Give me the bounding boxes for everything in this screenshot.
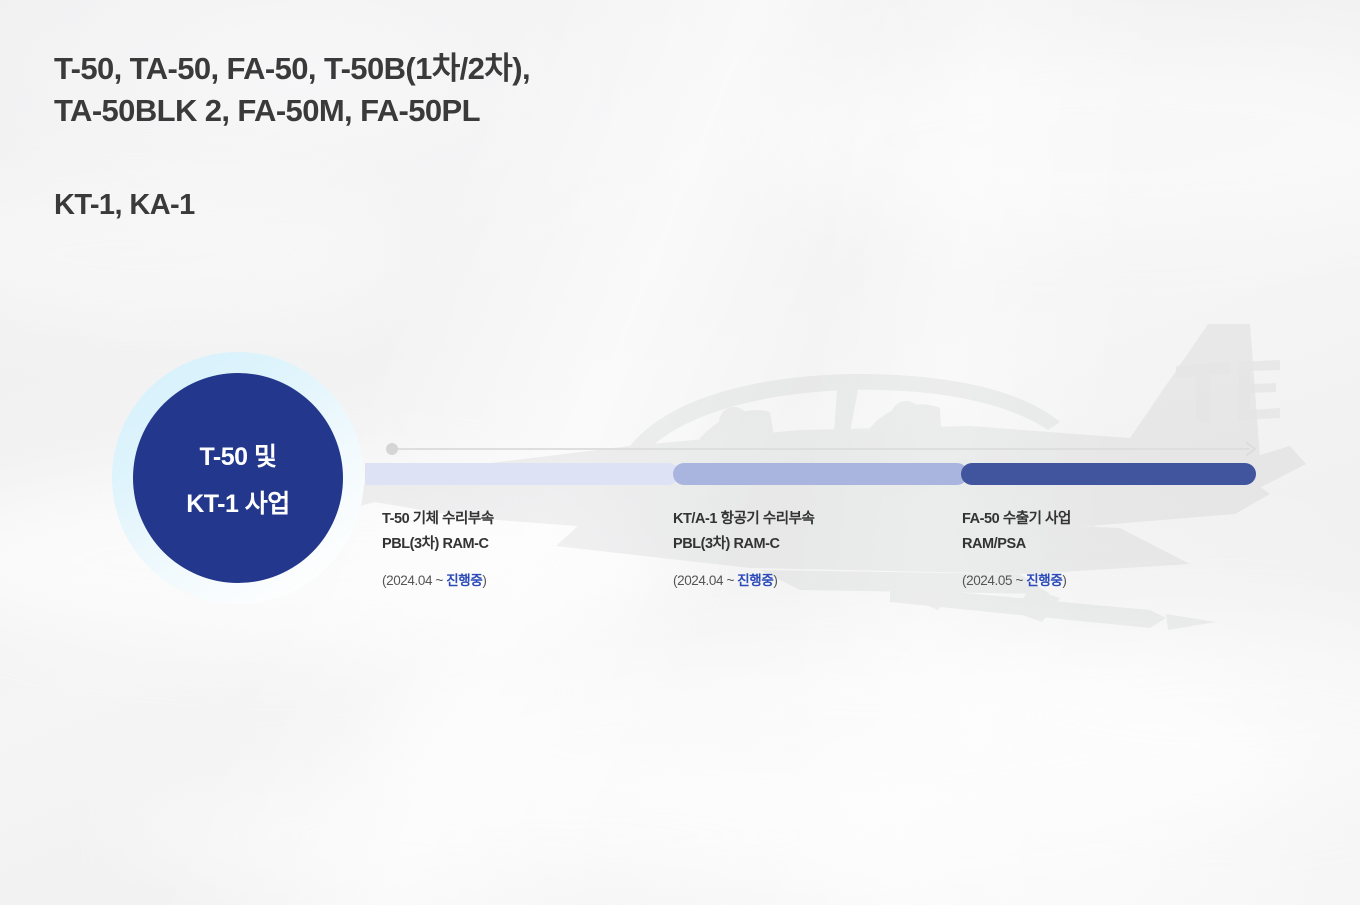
timeline-item-3-title-line-1: FA-50 수출기 사업 (962, 507, 1071, 532)
period-suffix: ) (482, 573, 486, 588)
period-prefix: (2024.04 ~ (382, 573, 446, 588)
timeline-item-2: KT/A-1 항공기 수리부속 PBL(3차) RAM-C (2024.04 ~… (673, 507, 814, 589)
cloud-texture (760, 40, 1360, 240)
program-badge-line-1: T-50 및 (200, 437, 277, 473)
period-prefix: (2024.05 ~ (962, 573, 1026, 588)
page-title-line-1: T-50, TA-50, FA-50, T-50B(1차/2차), (54, 48, 530, 90)
program-badge[interactable]: T-50 및 KT-1 사업 (133, 373, 343, 583)
timeline-item-2-title-line-2: PBL(3차) RAM-C (673, 532, 814, 557)
program-badge-line-2: KT-1 사업 (186, 484, 290, 520)
svg-text:001: 001 (1070, 521, 1098, 540)
status-badge: 진행중 (446, 573, 482, 588)
period-suffix: ) (773, 573, 777, 588)
page-subtitle-line-1: KT-1, KA-1 (54, 186, 195, 225)
timeline-item-1-title-line-1: T-50 기체 수리부속 (382, 507, 494, 532)
timeline-axis (386, 442, 1258, 456)
page-subtitle: KT-1, KA-1 (54, 186, 195, 225)
arrow-right-icon (1244, 440, 1258, 458)
timeline-item-2-period: (2024.04 ~ 진행중) (673, 569, 814, 589)
timeline-bar-3[interactable] (961, 463, 1256, 485)
page-title: T-50, TA-50, FA-50, T-50B(1차/2차), TA-50B… (54, 48, 530, 132)
status-badge: 진행중 (1026, 573, 1062, 588)
period-prefix: (2024.04 ~ (673, 573, 737, 588)
timeline-item-1-period: (2024.04 ~ 진행중) (382, 569, 494, 589)
cloud-texture (120, 760, 940, 905)
timeline-item-1: T-50 기체 수리부속 PBL(3차) RAM-C (2024.04 ~ 진행… (382, 507, 494, 589)
status-badge: 진행중 (737, 573, 773, 588)
timeline-item-1-title-line-2: PBL(3차) RAM-C (382, 532, 494, 557)
period-suffix: ) (1062, 573, 1066, 588)
slide-canvas: KAI 001 T-50, TA-50, FA-50, T-50B(1차/2차)… (0, 0, 1360, 905)
cloud-texture (940, 620, 1360, 810)
timeline-bar-2[interactable] (673, 463, 968, 485)
timeline-item-3-title-line-2: RAM/PSA (962, 532, 1071, 557)
timeline-item-2-title-line-1: KT/A-1 항공기 수리부속 (673, 507, 814, 532)
timeline-bar-1[interactable] (365, 463, 679, 485)
timeline-axis-line (392, 448, 1250, 450)
timeline-start-dot-icon (386, 443, 398, 455)
timeline-item-3: FA-50 수출기 사업 RAM/PSA (2024.05 ~ 진행중) (962, 507, 1071, 589)
program-badge-ring: T-50 및 KT-1 사업 (112, 352, 364, 604)
timeline-item-3-period: (2024.05 ~ 진행중) (962, 569, 1071, 589)
cloud-texture (380, 640, 1280, 850)
page-title-line-2: TA-50BLK 2, FA-50M, FA-50PL (54, 90, 530, 132)
